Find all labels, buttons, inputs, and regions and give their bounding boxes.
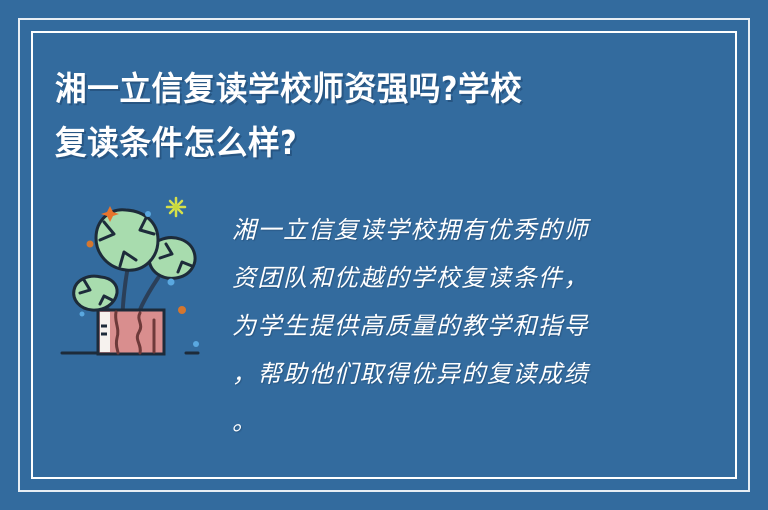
body-line-4: ，帮助他们取得优异的复读成绩	[232, 350, 652, 398]
leaf-left-icon	[74, 276, 117, 310]
body-line-2: 资团队和优越的学校复读条件，	[232, 254, 652, 302]
body-line-1: 湘一立信复读学校拥有优秀的师	[232, 206, 652, 254]
body-paragraph: 湘一立信复读学校拥有优秀的师 资团队和优越的学校复读条件， 为学生提供高质量的教…	[232, 206, 652, 446]
potted-plant-illustration	[60, 192, 212, 374]
title-line-1: 湘一立信复读学校师资强吗?学校	[55, 62, 631, 116]
sparkle-yellow-icon	[167, 198, 185, 216]
body-line-5: 。	[232, 398, 652, 446]
flower-pot-icon	[98, 310, 164, 354]
poster-canvas: 湘一立信复读学校师资强吗?学校 复读条件怎么样?	[0, 0, 768, 510]
body-line-3: 为学生提供高质量的教学和指导	[232, 302, 652, 350]
title-line-2: 复读条件怎么样?	[55, 116, 631, 170]
leaf-center-icon	[96, 210, 158, 270]
page-title: 湘一立信复读学校师资强吗?学校 复读条件怎么样?	[55, 62, 655, 170]
